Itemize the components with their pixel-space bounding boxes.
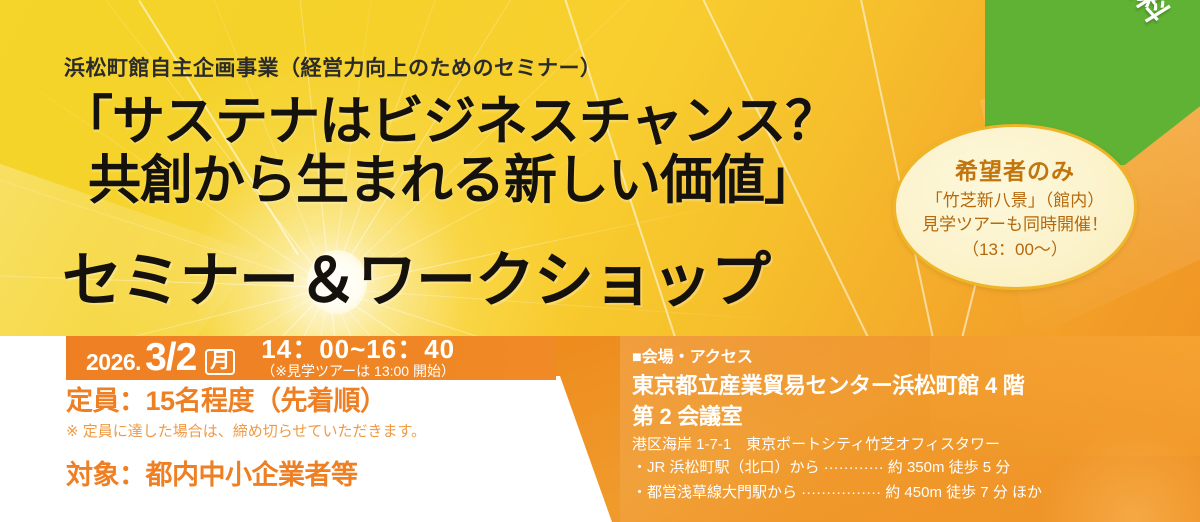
date-dayofweek: 月 xyxy=(205,349,235,375)
badge-line-2: 見学ツアーも同時開催！ xyxy=(922,213,1108,237)
date-year: 2026. xyxy=(86,349,141,376)
venue-heading: ■会場・アクセス xyxy=(632,348,1188,369)
time-note: （※見学ツアーは 13:00 開始） xyxy=(261,363,455,380)
badge-line-3: （13：00〜） xyxy=(962,238,1068,262)
badge-line-1: 「竹芝新八景」（館内） xyxy=(926,189,1105,213)
venue-group: ■会場・アクセス 東京都立産業貿易センター浜松町館 4 階 第 2 会議室 港区… xyxy=(632,348,1188,504)
venue-access-2: ・都営浅草線大門駅から ················ 約 450m 徒歩 7… xyxy=(632,481,1188,504)
page-title: 「サステナはビジネスチャンス？ 共創から生まれる新しい価値」 xyxy=(60,92,920,211)
seminar-banner: 参加費無料 浜松町館自主企画事業（経営力向上のためのセミナー） 「サステナはビジ… xyxy=(0,0,1200,522)
capacity-group: 定員：15名程度（先着順） ※ 定員に達した場合は、締め切らせていただきます。 … xyxy=(66,386,586,492)
info-panel: 2026. 3/2 月 14：00~16：40 （※見学ツアーは 13:00 開… xyxy=(0,336,1200,522)
capacity-label: 定員：15名程度（先着順） xyxy=(66,386,586,418)
venue-name-line-2: 第 2 会議室 xyxy=(632,403,1188,431)
title-line-1: 「サステナはビジネスチャンス？ xyxy=(60,92,837,151)
target-audience: 対象：都内中小企業者等 xyxy=(66,453,586,492)
ribbon-label: 参加費無料 xyxy=(1060,0,1182,31)
venue-access-1: ・JR 浜松町駅（北口）から ············ 約 350m 徒歩 5 … xyxy=(632,456,1188,479)
venue-address: 港区海岸 1-7-1 東京ポートシティ竹芝オフィスタワー xyxy=(632,435,1188,455)
badge-heading: 希望者のみ xyxy=(955,152,1075,186)
date-day: 3/2 xyxy=(145,336,196,380)
kicker-text: 浜松町館自主企画事業（経営力向上のためのセミナー） xyxy=(64,52,602,82)
date-group: 2026. 3/2 月 xyxy=(66,336,235,380)
date-time-bar: 2026. 3/2 月 14：00~16：40 （※見学ツアーは 13:00 開… xyxy=(66,336,556,380)
capacity-note: ※ 定員に達した場合は、締め切らせていただきます。 xyxy=(66,422,586,442)
venue-name-line-1: 東京都立産業貿易センター浜松町館 4 階 xyxy=(632,372,1188,400)
time-range: 14：00~16：40 xyxy=(261,336,455,363)
title-line-2: 共創から生まれる新しい価値」 xyxy=(88,151,920,210)
optional-tour-badge: 希望者のみ 「竹芝新八景」（館内） 見学ツアーも同時開催！ （13：00〜） xyxy=(893,124,1137,290)
subtitle-text: セミナー＆ワークショップ xyxy=(62,232,942,319)
time-group: 14：00~16：40 （※見学ツアーは 13:00 開始） xyxy=(261,336,455,380)
